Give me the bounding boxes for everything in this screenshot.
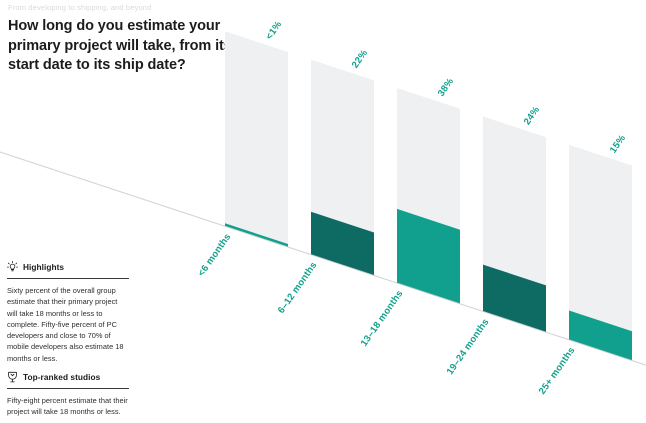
panel-highlights-body: Sixty percent of the overall group estim… xyxy=(7,285,129,364)
panel-highlights: Highlights Sixty percent of the overall … xyxy=(7,260,129,364)
bar-category-label: 19–24 months xyxy=(445,317,492,377)
panel-highlights-divider xyxy=(7,278,129,279)
bar-track xyxy=(225,31,288,247)
bar-value-label: 15% xyxy=(608,133,629,156)
bar-value-label: <1% xyxy=(264,19,285,42)
panel-studios-header: Top-ranked studios xyxy=(7,370,129,383)
panel-top-ranked-studios: Top-ranked studios Fifty-eight percent e… xyxy=(7,370,129,418)
bar-value-label: 22% xyxy=(350,47,371,70)
panel-studios-title: Top-ranked studios xyxy=(23,372,100,382)
bar-value-label: 38% xyxy=(436,76,457,99)
panel-studios-divider xyxy=(7,388,129,389)
bar-group-2[interactable]: 22%6–12 months xyxy=(276,47,374,315)
bar-category-label: 6–12 months xyxy=(276,260,320,316)
bar-category-label: <6 months xyxy=(196,232,233,279)
bar-category-label: 25+ months xyxy=(537,345,578,396)
bar-value-label: 24% xyxy=(522,104,543,127)
lightbulb-icon xyxy=(7,261,18,273)
panel-highlights-header: Highlights xyxy=(7,260,129,273)
infographic-root: From developing to shipping, and beyond … xyxy=(0,0,646,423)
bar-group-1[interactable]: <1%<6 months xyxy=(196,19,288,279)
trophy-icon xyxy=(7,371,18,383)
bar-group-5[interactable]: 15%25+ months xyxy=(537,133,632,397)
panel-studios-body: Fifty-eight percent estimate that their … xyxy=(7,395,129,418)
panel-highlights-title: Highlights xyxy=(23,262,64,272)
bar-category-label: 13–18 months xyxy=(359,288,406,348)
